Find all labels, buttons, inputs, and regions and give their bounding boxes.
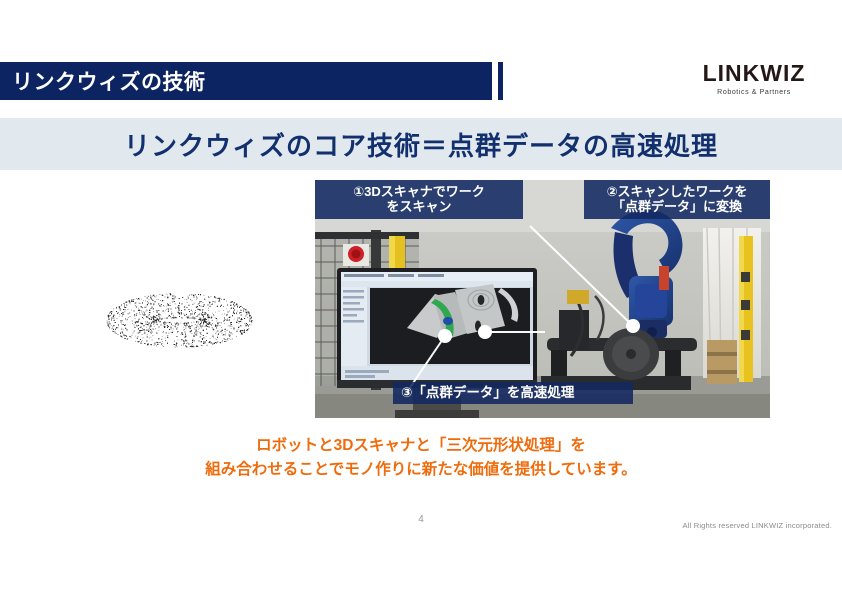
page-title: リンクウィズのコア技術＝点群データの高速処理	[124, 126, 718, 163]
factory-photo: ①3Dスキャナでワーク をスキャン ②スキャンしたワークを 「点群データ」に変換…	[315, 180, 770, 418]
logo-tagline: Robotics & Partners	[674, 89, 834, 96]
logo-wordmark: LINKWIZ	[674, 62, 834, 85]
caption-line-2: 組み合わせることでモノ作りに新たな価値を提供しています。	[0, 458, 842, 482]
callout-3-label: ③「点群データ」を高速処理	[393, 382, 633, 404]
callout-2-label: ②スキャンしたワークを 「点群データ」に変換	[584, 180, 770, 219]
section-header-band: リンクウィズの技術	[0, 62, 492, 100]
header-accent-bar	[498, 62, 503, 100]
point-cloud-torus	[62, 245, 297, 395]
linkwiz-logo: LINKWIZ Robotics & Partners	[674, 62, 834, 96]
caption-line-1: ロボットと3Dスキャナと「三次元形状処理」を	[0, 434, 842, 458]
copyright-notice: All Rights reserved LINKWIZ incorporated…	[682, 521, 832, 530]
summary-caption: ロボットと3Dスキャナと「三次元形状処理」を 組み合わせることでモノ作りに新たな…	[0, 434, 842, 481]
slide: リンクウィズの技術 LINKWIZ Robotics & Partners リン…	[0, 0, 842, 595]
callout-1-label: ①3Dスキャナでワーク をスキャン	[315, 180, 523, 219]
section-title: リンクウィズの技術	[0, 66, 206, 96]
main-title-band: リンクウィズのコア技術＝点群データの高速処理	[0, 118, 842, 170]
